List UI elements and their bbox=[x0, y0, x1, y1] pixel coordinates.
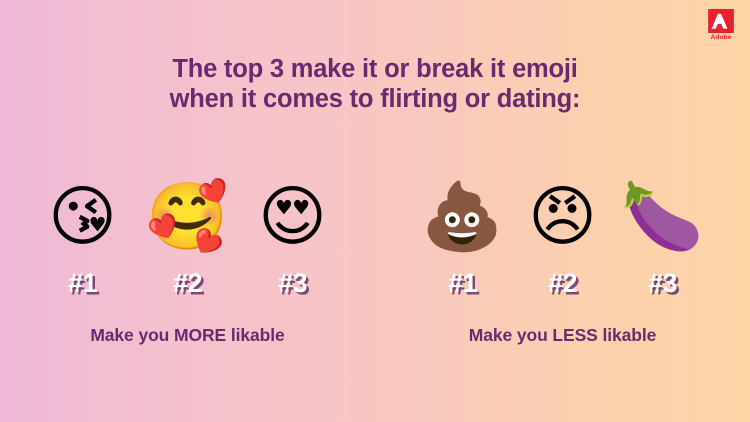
panels-container: 😘 🥰 😍 #1 #2 #3 Make y bbox=[0, 168, 750, 345]
rank-badge: #1 bbox=[448, 268, 477, 298]
emoji-row-more: 😘 🥰 😍 bbox=[0, 168, 375, 260]
rank-badge: #3 bbox=[278, 268, 307, 298]
emoji-cell: 🥰 bbox=[135, 174, 240, 260]
adobe-wordmark: Adobe bbox=[704, 35, 738, 42]
panel-less-likable: 💩 😠 🍆 #1 #2 #3 Make y bbox=[375, 168, 750, 345]
rank-badge: #1 bbox=[68, 268, 97, 298]
pile-of-poo-emoji: 💩 bbox=[421, 174, 503, 260]
panel-caption-more: Make you MORE likable bbox=[90, 325, 284, 345]
headline-line-1: The top 3 make it or break it emoji bbox=[0, 54, 750, 84]
angry-face-emoji: 😠 bbox=[528, 174, 597, 260]
emoji-cell: 🍆 bbox=[613, 174, 713, 260]
face-blowing-a-kiss-emoji: 😘 bbox=[48, 174, 117, 260]
rank-cell: #3 bbox=[613, 268, 713, 298]
panel-caption-less: Make you LESS likable bbox=[469, 325, 657, 345]
headline-line-2: when it comes to flirting or dating: bbox=[0, 84, 750, 114]
rank-cell: #1 bbox=[413, 268, 513, 298]
rank-row-more: #1 #2 #3 bbox=[0, 268, 375, 298]
emoji-cell: 😘 bbox=[30, 174, 135, 260]
emoji-cell: 😍 bbox=[240, 174, 345, 260]
rank-badge: #3 bbox=[648, 268, 677, 298]
rank-badge: #2 bbox=[548, 268, 577, 298]
eggplant-emoji: 🍆 bbox=[621, 174, 703, 260]
rank-cell: #2 bbox=[135, 268, 240, 298]
rank-cell: #1 bbox=[30, 268, 135, 298]
emoji-cell: 😠 bbox=[513, 174, 613, 260]
emoji-cell: 💩 bbox=[413, 174, 513, 260]
emoji-row-less: 💩 😠 🍆 bbox=[375, 168, 750, 260]
adobe-logo: Adobe bbox=[704, 9, 738, 42]
rank-row-less: #1 #2 #3 bbox=[375, 268, 750, 298]
adobe-a-logo-icon bbox=[708, 9, 734, 33]
rank-cell: #3 bbox=[240, 268, 345, 298]
page-title: The top 3 make it or break it emoji when… bbox=[0, 54, 750, 114]
rank-cell: #2 bbox=[513, 268, 613, 298]
smiling-face-with-heart-eyes-emoji: 😍 bbox=[258, 174, 327, 260]
smiling-face-with-hearts-emoji: 🥰 bbox=[146, 174, 228, 260]
emoji-infographic: Adobe The top 3 make it or break it emoj… bbox=[0, 0, 750, 422]
panel-more-likable: 😘 🥰 😍 #1 #2 #3 Make y bbox=[0, 168, 375, 345]
rank-badge: #2 bbox=[173, 268, 202, 298]
